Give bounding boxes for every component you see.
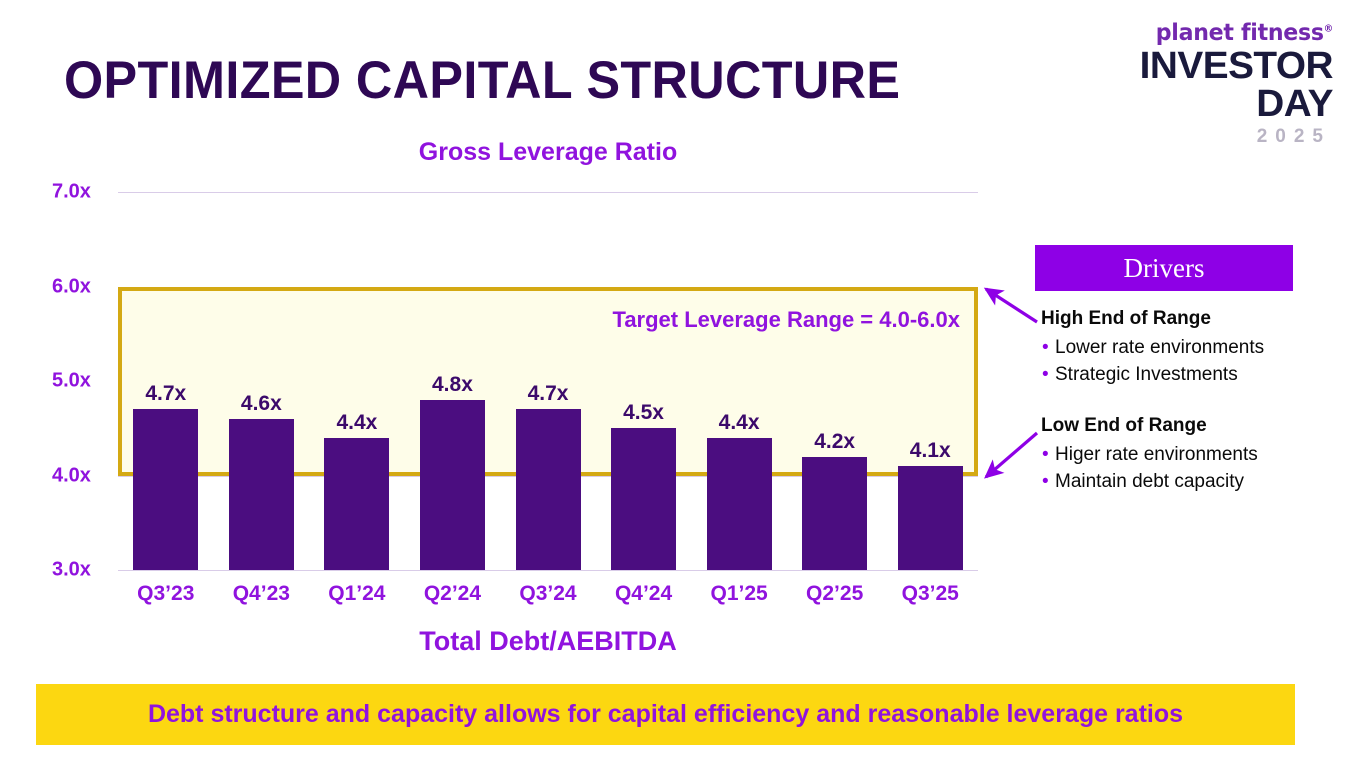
logo-brand-text: planet fitness® [1076, 22, 1333, 45]
y-axis-tick-label: 6.0x [52, 275, 112, 298]
driver-list-item: •Higer rate environments [1041, 442, 1351, 469]
bar-value-label: 4.4x [302, 411, 412, 435]
bar-value-label: 4.1x [875, 439, 985, 463]
driver-group-heading: Low End of Range [1041, 415, 1351, 437]
plot-area: Target Leverage Range = 4.0-6.0x 4.7x4.6… [118, 192, 978, 570]
driver-list-item-label: Higer rate environments [1055, 444, 1258, 465]
driver-list-item: •Maintain debt capacity [1041, 469, 1351, 496]
driver-list-item-label: Lower rate environments [1055, 337, 1264, 358]
bar: 4.7x [133, 409, 198, 570]
y-axis-tick-label: 5.0x [52, 370, 112, 393]
slide: OPTIMIZED CAPITAL STRUCTURE planet fitne… [0, 0, 1365, 768]
summary-banner-text: Debt structure and capacity allows for c… [36, 684, 1295, 745]
y-axis-tick-label: 4.0x [52, 464, 112, 487]
y-axis-tick-label: 7.0x [52, 181, 112, 204]
bar-value-label: 4.5x [589, 401, 699, 425]
trademark-icon: ® [1324, 23, 1333, 34]
x-axis-labels: Q3’23Q4’23Q1’24Q2’24Q3’24Q4’24Q1’25Q2’25… [118, 582, 978, 612]
bar: 4.2x [802, 457, 867, 570]
driver-list-item-label: Maintain debt capacity [1055, 471, 1244, 492]
x-axis-label: Q3’23 [111, 582, 221, 606]
driver-group-heading: High End of Range [1041, 308, 1351, 330]
gridline [118, 570, 978, 571]
bar-value-label: 4.6x [206, 392, 316, 416]
y-axis-ticks: 3.0x4.0x5.0x6.0x7.0x [48, 192, 112, 570]
bar-value-label: 4.8x [397, 373, 507, 397]
bar: 4.8x [420, 400, 485, 570]
bullet-icon: • [1042, 469, 1049, 496]
logo-brand-label: planet fitness [1156, 20, 1324, 46]
driver-list-item: •Lower rate environments [1041, 335, 1351, 362]
bar: 4.1x [898, 466, 963, 570]
x-axis-label: Q1’24 [302, 582, 412, 606]
bar: 4.7x [516, 409, 581, 570]
bar-value-label: 4.7x [493, 382, 603, 406]
driver-group: Low End of Range•Higer rate environments… [1041, 415, 1351, 496]
bar-value-label: 4.7x [111, 382, 221, 406]
bullet-icon: • [1042, 442, 1049, 469]
x-axis-label: Q4’23 [206, 582, 316, 606]
bullet-icon: • [1042, 362, 1049, 389]
y-axis-tick-label: 3.0x [52, 559, 112, 582]
bar: 4.4x [707, 438, 772, 570]
drivers-panel-body: High End of Range•Lower rate environment… [1041, 308, 1351, 496]
x-axis-title: Total Debt/AEBITDA [118, 626, 978, 657]
planet-fitness-investor-day-logo: planet fitness® INVESTOR DAY 2025 [1065, 22, 1333, 146]
driver-list-item-label: Strategic Investments [1055, 364, 1238, 385]
bar: 4.6x [229, 419, 294, 570]
bar: 4.4x [324, 438, 389, 570]
bar-series: 4.7x4.6x4.4x4.8x4.7x4.5x4.4x4.2x4.1x [118, 192, 978, 570]
driver-list-item: •Strategic Investments [1041, 362, 1351, 389]
logo-main-text: INVESTOR DAY [1060, 47, 1333, 123]
x-axis-label: Q2’24 [397, 582, 507, 606]
drivers-panel-header: Drivers [1035, 245, 1293, 291]
bar-value-label: 4.2x [780, 430, 890, 454]
logo-year-text: 2025 [1065, 127, 1333, 146]
bullet-icon: • [1042, 335, 1049, 362]
x-axis-label: Q1’25 [684, 582, 794, 606]
bar: 4.5x [611, 428, 676, 570]
x-axis-label: Q2’25 [780, 582, 890, 606]
bar-value-label: 4.4x [684, 411, 794, 435]
x-axis-label: Q3’25 [875, 582, 985, 606]
summary-banner: Debt structure and capacity allows for c… [36, 684, 1295, 745]
gross-leverage-chart: 3.0x4.0x5.0x6.0x7.0x Target Leverage Ran… [0, 0, 1020, 640]
x-axis-label: Q4’24 [589, 582, 699, 606]
x-axis-label: Q3’24 [493, 582, 603, 606]
driver-group: High End of Range•Lower rate environment… [1041, 308, 1351, 389]
